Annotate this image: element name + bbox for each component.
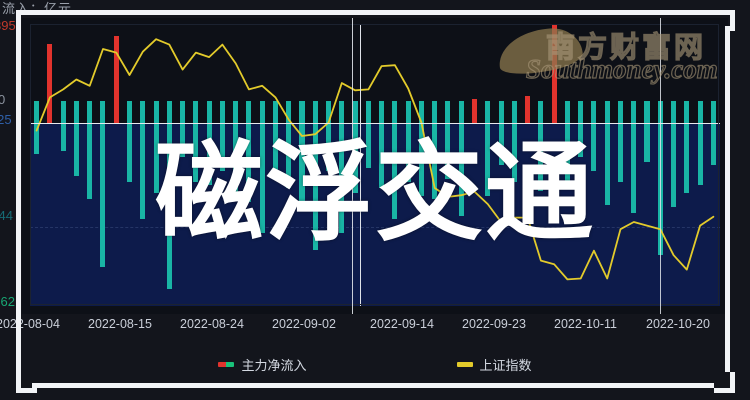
- legend-item[interactable]: 上证指数: [457, 355, 532, 374]
- frame-edge-left: [16, 26, 21, 372]
- crosshair-vertical-overlay: [352, 18, 353, 314]
- y-axis-label: 395: [0, 18, 16, 33]
- frame-corner-bottom-left: [16, 372, 37, 393]
- x-axis-label: 2022-08-15: [88, 317, 152, 331]
- frame-edge-top: [32, 10, 714, 15]
- x-axis-label: 2022-10-20: [646, 317, 710, 331]
- x-axis-label: 2022-09-14: [370, 317, 434, 331]
- legend-label: 主力净流入: [241, 355, 306, 374]
- x-axis-label: 2022-08-24: [180, 317, 244, 331]
- legend-item[interactable]: 主力净流入: [218, 355, 306, 374]
- frame-corner-top-left: [16, 10, 37, 31]
- y-axis-label: 3644: [0, 208, 13, 223]
- y-axis-label: -3.25: [0, 112, 12, 127]
- crosshair-vertical-secondary: [660, 18, 661, 314]
- y-axis-label: 3362: [0, 294, 15, 309]
- chart-plot-area[interactable]: [30, 24, 720, 306]
- frame-edge-right: [725, 26, 730, 372]
- chart-legend[interactable]: 主力净流入上证指数: [0, 352, 750, 376]
- chart-panel[interactable]: [22, 18, 728, 314]
- y-axis-label: 0: [0, 92, 5, 107]
- frame-edge-bottom: [32, 383, 714, 388]
- crosshair-horizontal: [30, 123, 720, 124]
- line-series-shanghai-index: [30, 24, 720, 306]
- x-axis-label: 2022-09-23: [462, 317, 526, 331]
- x-axis-label: 2022-08-04: [0, 317, 60, 331]
- legend-label: 上证指数: [480, 355, 532, 374]
- crosshair-vertical: [360, 24, 361, 306]
- legend-swatch-icon: [218, 362, 234, 367]
- x-axis-label: 2022-09-02: [272, 317, 336, 331]
- x-axis-label: 2022-10-11: [554, 317, 617, 331]
- frame-corner-top-right: [714, 10, 735, 31]
- frame-corner-bottom-right: [714, 372, 735, 393]
- screenshot-root: 流入：亿元 3950-3.2536443362 2022-08-042022-0…: [0, 0, 750, 400]
- legend-swatch-icon: [457, 362, 473, 367]
